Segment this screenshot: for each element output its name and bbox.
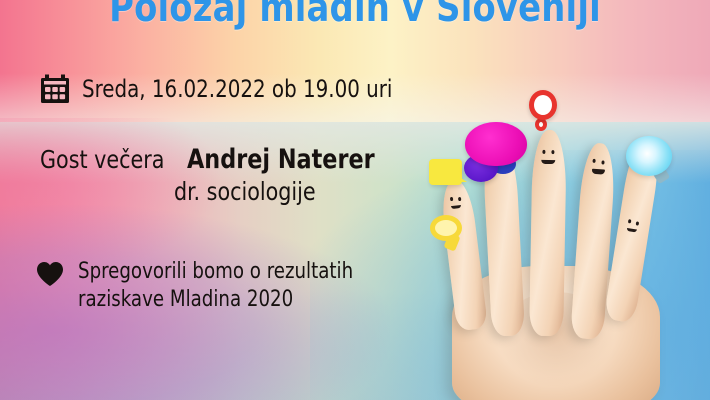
guest-line: Gost večera Andrej Naterer bbox=[40, 144, 391, 176]
event-note-line-2: raziskave Mladina 2020 bbox=[78, 286, 353, 314]
finger-face-index bbox=[586, 158, 611, 180]
finger-face-thumb bbox=[620, 218, 647, 242]
event-note-row: Spregovorili bomo o rezultatih raziskave… bbox=[36, 258, 377, 314]
finger-pinky bbox=[439, 179, 488, 332]
red-outline-speech-bubble bbox=[529, 90, 557, 120]
yellow-square-speech-bubble bbox=[429, 159, 462, 185]
guest-credential: dr. sociologije bbox=[174, 176, 374, 208]
event-date-text: Sreda, 16.02.2022 ob 19.00 uri bbox=[82, 74, 392, 104]
calendar-icon bbox=[40, 74, 70, 104]
poster-title: Položaj mladih v Sloveniji bbox=[21, 0, 688, 31]
heart-icon bbox=[36, 261, 64, 287]
hand-with-finger-faces bbox=[404, 96, 710, 400]
event-note-line-1: Spregovorili bomo o rezultatih bbox=[78, 258, 353, 286]
finger-face-middle bbox=[537, 150, 561, 170]
event-date-row: Sreda, 16.02.2022 ob 19.00 uri bbox=[40, 74, 419, 104]
event-poster: Položaj mladih v Sloveniji Sreda, 16.02.… bbox=[0, 0, 710, 400]
yellow-oval-speech-bubble bbox=[430, 215, 462, 241]
cyan-swirl-speech-bubble bbox=[626, 136, 672, 176]
finger-middle bbox=[529, 130, 567, 337]
guest-name: Andrej Naterer bbox=[187, 144, 375, 176]
magenta-speech-bubble bbox=[465, 122, 527, 166]
guest-label: Gost večera bbox=[40, 144, 164, 176]
guest-speaker-block: Gost večera Andrej Naterer dr. sociologi… bbox=[40, 144, 391, 208]
event-note-text: Spregovorili bomo o rezultatih raziskave… bbox=[78, 258, 353, 314]
